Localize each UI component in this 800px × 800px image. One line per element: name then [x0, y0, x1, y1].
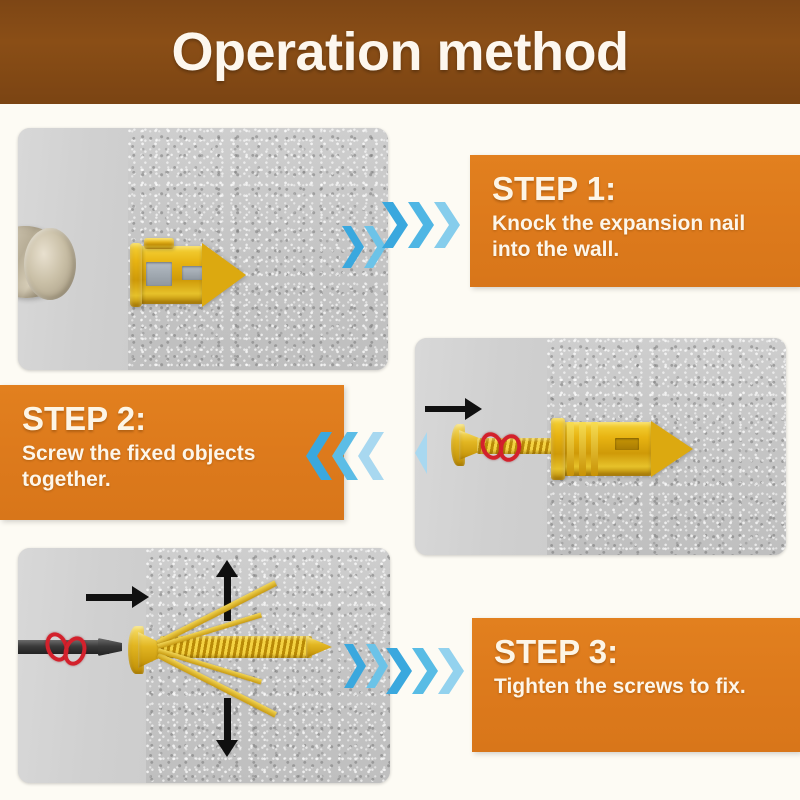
anchor-rib: [567, 422, 574, 476]
chevrons-inside-step-1: [342, 224, 386, 270]
arrow-shaft: [224, 698, 231, 743]
chevron-left-icon: [332, 430, 358, 482]
anchor-window-slot-2: [182, 266, 204, 280]
step-2-title: STEP 2:: [22, 401, 324, 437]
arrow-shaft: [224, 576, 231, 621]
anchor-collar: [130, 243, 142, 307]
anchor-point-tip: [202, 243, 246, 307]
chevrons-step-3: [386, 646, 464, 696]
chevron-right-icon: [412, 646, 438, 696]
chevron-right-icon: [382, 200, 408, 250]
chevron-left-icon: [306, 430, 332, 482]
chevron-right-icon: [342, 224, 364, 270]
arrow-shaft: [86, 594, 134, 601]
step-1-title: STEP 1:: [492, 171, 780, 207]
chevron-right-icon: [366, 642, 388, 690]
chevrons-inside-step-3: [344, 642, 388, 690]
illustration-step-3: [18, 548, 390, 783]
page-title: Operation method: [171, 21, 628, 83]
step-panel-1: STEP 1: Knock the expansion nail into th…: [470, 155, 800, 287]
anchor-point-tip: [651, 421, 693, 477]
illustration-step-2: [415, 338, 786, 555]
anchor-window-slot: [615, 438, 639, 450]
arrow-head: [216, 740, 238, 757]
smooth-surface-zone: [18, 548, 146, 783]
anchor-top-tab: [144, 238, 174, 249]
illustration-step-1: [18, 128, 388, 370]
arrow-shaft: [425, 406, 467, 412]
chevron-right-icon: [344, 642, 366, 690]
step-3-title: STEP 3:: [494, 634, 780, 670]
step-3-description: Tighten the screws to fix.: [494, 674, 780, 700]
chevron-right-icon: [386, 646, 412, 696]
arrow-head: [465, 398, 482, 420]
anchor-window-slot-1: [146, 262, 172, 286]
chevron-left-icon: [358, 430, 384, 482]
chevron-right-icon: [408, 200, 434, 250]
chevrons-inside-step-2: [415, 430, 427, 476]
infographic-page: Operation method: [0, 0, 800, 800]
arrow-head: [216, 560, 238, 577]
anchor-rib: [579, 422, 586, 476]
anchor-collar: [551, 418, 565, 480]
chevron-left-icon: [415, 430, 427, 476]
chevrons-step-1: [382, 200, 460, 250]
chevrons-step-2: [306, 430, 384, 482]
header-banner: Operation method: [0, 0, 800, 104]
hammer-face-icon: [24, 228, 76, 300]
chevron-right-icon: [438, 646, 464, 696]
arrow-head: [132, 586, 149, 608]
step-2-description: Screw the fixed objects together.: [22, 441, 324, 494]
step-1-description: Knock the expansion nail into the wall.: [492, 211, 780, 264]
anchor-rib: [591, 422, 598, 476]
step-panel-2: STEP 2: Screw the fixed objects together…: [0, 385, 344, 520]
step-panel-3: STEP 3: Tighten the screws to fix.: [472, 618, 800, 752]
chevron-right-icon: [434, 200, 460, 250]
